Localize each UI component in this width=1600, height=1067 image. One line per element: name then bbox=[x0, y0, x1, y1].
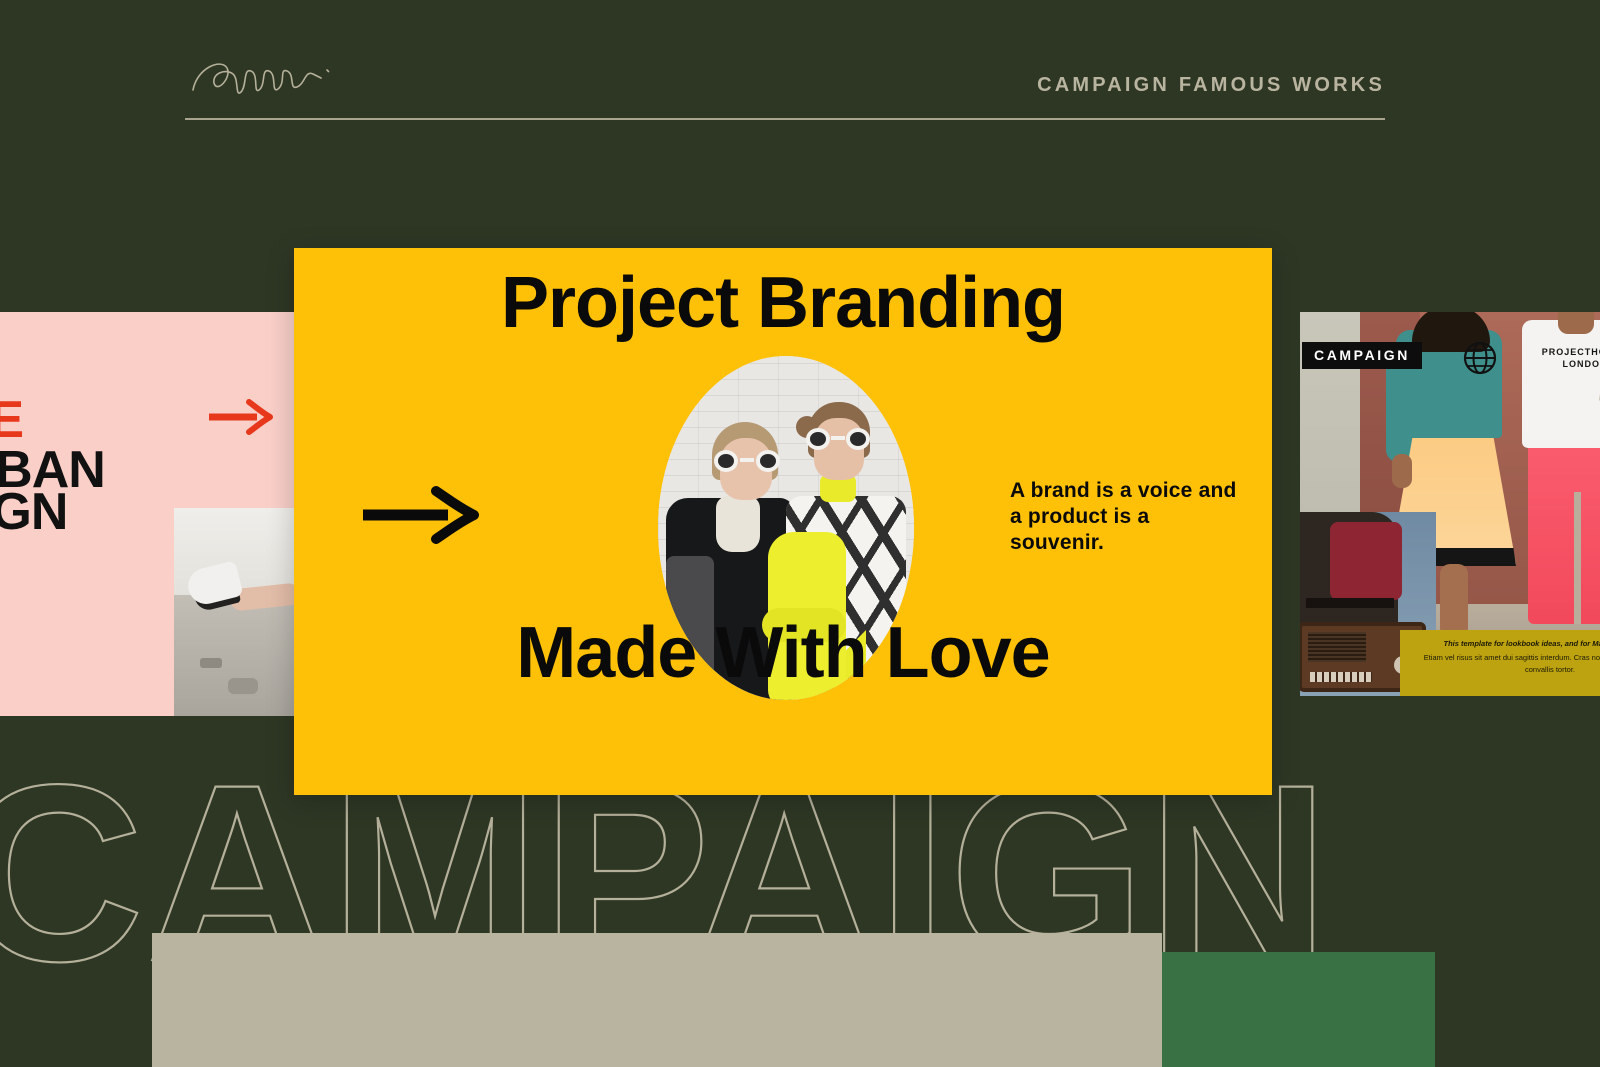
model-b-tshirt bbox=[1522, 320, 1600, 448]
arrow-right-icon bbox=[207, 398, 273, 436]
sunglasses-lens bbox=[806, 428, 830, 450]
slide-stage: CAMPAIGN MAKE A URBAN DESIGN bbox=[0, 0, 1600, 1067]
fineprint-line: dmca • remove bbox=[0, 656, 54, 668]
fineprint-line: • terms of service bbox=[0, 644, 54, 656]
tshirt-print-line1: PROJECTHOUSE bbox=[1538, 346, 1600, 358]
model-b-leg-gap bbox=[1574, 492, 1581, 624]
slide-body-text: A brand is a voice and a product is a so… bbox=[1010, 478, 1240, 556]
campaign-signature-logo[interactable] bbox=[185, 50, 355, 105]
tshirt-print-text: PROJECTHOUSE LONDON bbox=[1538, 346, 1600, 370]
slide-subtitle: Made With Love bbox=[294, 620, 1272, 687]
page-header: CAMPAIGN FAMOUS WORKS bbox=[0, 0, 1600, 140]
campaign-badge: CAMPAIGN bbox=[1302, 342, 1422, 369]
right-model-sunglasses bbox=[806, 428, 870, 450]
model-b-pants bbox=[1528, 440, 1600, 624]
model-a-hand bbox=[1392, 454, 1412, 488]
caption-bold-text: This template for lookbook ideas, and fo… bbox=[1410, 638, 1600, 649]
photo-ground bbox=[174, 595, 294, 716]
card-right[interactable]: PROJECTHOUSE LONDON CAMPAIGN T bbox=[1300, 312, 1600, 696]
pink-card-photo bbox=[174, 508, 294, 716]
bottom-green-block bbox=[1145, 952, 1435, 1067]
model-b-neck bbox=[1558, 312, 1594, 334]
header-title: CAMPAIGN FAMOUS WORKS bbox=[1037, 74, 1385, 97]
sunglasses-lens bbox=[846, 428, 870, 450]
photo-ground-detail bbox=[228, 678, 258, 694]
radio-buttons bbox=[1310, 672, 1372, 682]
bottom-tan-block bbox=[152, 933, 1162, 1067]
radio-speaker bbox=[1308, 632, 1366, 662]
radio-photo-shirt bbox=[1330, 522, 1402, 600]
pink-fineprint: 020 Urban Dictionary ® • terms of servic… bbox=[0, 632, 54, 680]
caption-body-text: Etiam vel risus sit amet dui sagittis in… bbox=[1410, 652, 1600, 676]
fineprint-line: g • data subject request bbox=[0, 668, 54, 680]
globe-icon bbox=[1460, 338, 1500, 378]
arrow-right-icon[interactable] bbox=[360, 486, 480, 544]
sunglasses-lens bbox=[714, 450, 738, 472]
sunglasses-lens bbox=[756, 450, 780, 472]
tshirt-print-line2: LONDON bbox=[1538, 358, 1600, 370]
sunglasses-bridge bbox=[740, 458, 754, 462]
radio-photo-belt bbox=[1306, 598, 1394, 608]
fineprint-line: 020 Urban Dictionary ® bbox=[0, 632, 54, 644]
left-model-collar bbox=[716, 496, 760, 552]
photo-ground-detail bbox=[200, 658, 222, 668]
slide-title: Project Branding bbox=[294, 270, 1272, 337]
left-model-sunglasses bbox=[714, 450, 780, 472]
pink-headline-line3: DESIGN bbox=[0, 482, 67, 542]
card-right-caption: This template for lookbook ideas, and fo… bbox=[1400, 630, 1600, 696]
model-a-leg bbox=[1440, 564, 1468, 638]
main-slide[interactable]: Project Branding A brand is a voice and … bbox=[294, 248, 1272, 795]
card-pink[interactable]: MAKE A URBAN DESIGN 020 Urban Dictionary… bbox=[0, 312, 294, 716]
header-divider bbox=[185, 118, 1385, 120]
sunglasses-bridge bbox=[831, 436, 845, 440]
